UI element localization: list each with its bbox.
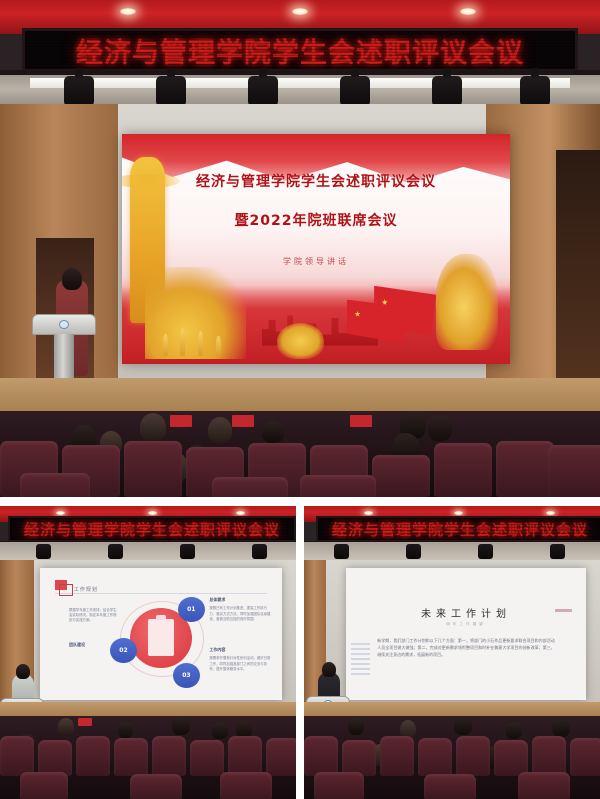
led-banner-right: 经济与管理学院学生会述职评议会议 — [316, 516, 600, 542]
step-heading-03: 工作内容 — [209, 647, 225, 653]
stage-spotlight-icon — [550, 544, 565, 559]
monument-figures-icon — [145, 267, 246, 359]
auditorium-seat — [20, 772, 68, 799]
stage-spotlight-icon — [108, 544, 123, 559]
audience-head — [140, 413, 166, 441]
auditorium-seat — [124, 441, 182, 497]
ceiling-downlight-icon — [292, 8, 308, 15]
right-detail-photo: 经济与管理学院学生会述职评议会议 未来工作计划 明年工作展望 新学期，我们部门工… — [304, 506, 600, 799]
auditorium-seat — [518, 772, 570, 799]
led-banner-left: 经济与管理学院学生会述职评议会议 — [8, 516, 296, 542]
auditorium-seat — [38, 740, 72, 776]
auditorium-seat — [266, 738, 296, 776]
auditorium-seat — [372, 455, 430, 497]
audience-head — [58, 718, 74, 735]
main-conference-photo: 经济与管理学院学生会述职评议会议 — [0, 0, 600, 497]
audience-head — [212, 722, 228, 739]
soffit-light-strip — [30, 78, 570, 88]
stage-spotlight-icon — [180, 544, 195, 559]
step-number-03: 03 — [173, 663, 200, 688]
auditorium-seat — [228, 736, 262, 776]
right-doorway — [556, 150, 600, 390]
projection-screen-main: 经济与管理学院学生会述职评议会议 暨2022年院班联席会议 学院领导讲话 — [122, 134, 510, 364]
projection-screen-left: 工作规划 01 02 03 总体要求 按照已有工作计划推进，提高工作执行力，落实… — [40, 568, 282, 700]
auditorium-seat — [532, 736, 566, 776]
ceiling-downlight-icon — [364, 511, 373, 515]
ceiling-downlight-icon — [56, 511, 65, 515]
auditorium-seat — [152, 736, 186, 776]
audience-area — [304, 716, 600, 799]
stage-spotlight-icon — [406, 544, 421, 559]
name-card — [78, 718, 92, 726]
stage-spotlight-icon — [478, 544, 493, 559]
ceiling-downlight-icon — [546, 511, 555, 515]
slide-note: 学院领导讲话 — [122, 256, 510, 267]
audience-head — [348, 718, 364, 735]
future-plan-body: 新学期，我们部门工作计划和以下几个方面：第一，将部门的小石作品更新要求联合项目和… — [377, 637, 555, 658]
speaker-head — [322, 662, 336, 677]
step-text-03: 按需求开展有针对性系列活动，做好日常工作，同时加强各部门之间的交流与协作，提升整… — [209, 656, 272, 672]
auditorium-seat — [212, 477, 288, 497]
auditorium-seat — [434, 443, 492, 497]
auditorium-seat — [130, 774, 182, 799]
left-detail-photo: 经济与管理学院学生会述职评议会议 工作规划 01 02 03 总体要求 按照已有… — [0, 506, 296, 799]
step-heading-01: 总体要求 — [209, 597, 225, 603]
auditorium-seat — [342, 740, 376, 776]
auditorium-seat — [76, 736, 110, 776]
audience-area — [0, 411, 600, 497]
stage-floor — [304, 702, 600, 716]
projection-screen-right: 未来工作计划 明年工作展望 新学期，我们部门工作计划和以下几个方面：第一，将部门… — [346, 568, 586, 700]
auditorium-seat — [496, 441, 554, 497]
led-banner-main: 经济与管理学院学生会述职评议会议 — [22, 28, 578, 72]
auditorium-seat — [190, 740, 224, 776]
speaker-head — [62, 268, 82, 290]
audience-head — [208, 417, 232, 443]
speaker-head — [16, 664, 30, 679]
future-plan-subtitle: 明年工作展望 — [346, 622, 586, 627]
header-square-outline-icon — [59, 584, 73, 597]
ceiling-downlight-icon — [236, 511, 245, 515]
guardian-lion-icon — [436, 254, 498, 351]
step-text-01: 按照已有工作计划推进，提高工作执行力，落实方式方法，同时加强团队自身建设，营造互… — [209, 606, 272, 622]
auditorium-seat — [456, 736, 490, 776]
stage-spotlight-icon — [252, 544, 267, 559]
led-banner-text: 经济与管理学院学生会述职评议会议 — [332, 519, 588, 540]
step-number-02: 02 — [110, 638, 137, 663]
party-emblem-icon — [277, 323, 324, 360]
podium-main — [32, 314, 96, 384]
auditorium-seat — [424, 774, 476, 799]
audience-head — [506, 722, 522, 739]
auditorium-seat — [114, 738, 148, 776]
stage-spotlight-icon — [334, 544, 349, 559]
name-card — [170, 415, 192, 427]
auditorium-seat — [548, 445, 600, 497]
title-accent-dash — [555, 609, 572, 612]
audience-head — [552, 718, 570, 737]
photo-collage: 经济与管理学院学生会述职评议会议 — [0, 0, 600, 799]
stage-spotlight-icon — [36, 544, 51, 559]
slide-title: 经济与管理学院学生会述职评议会议 — [122, 171, 510, 191]
ceiling-downlight-icon — [148, 511, 157, 515]
name-card — [350, 415, 372, 427]
ceiling-downlight-icon — [460, 8, 476, 15]
ceiling-downlight-icon — [120, 8, 136, 15]
auditorium-seat — [0, 736, 34, 776]
auditorium-seat — [570, 738, 600, 776]
lighting-truss — [0, 70, 600, 75]
audience-head — [428, 415, 452, 441]
led-banner-text: 经济与管理学院学生会述职评议会议 — [24, 519, 280, 540]
auditorium-seat — [20, 473, 90, 497]
audience-head — [118, 722, 133, 738]
ceiling-downlight-icon — [454, 511, 463, 515]
clipboard-icon — [148, 619, 175, 656]
stage-floor — [0, 378, 600, 412]
future-plan-title: 未来工作计划 — [346, 605, 586, 620]
auditorium-seat — [304, 736, 338, 776]
auditorium-seat — [418, 738, 452, 776]
led-banner-text: 经济与管理学院学生会述职评议会议 — [76, 31, 524, 70]
slide-thumbnail-rail — [351, 643, 370, 678]
auditorium-seat — [300, 475, 376, 497]
step-number-01: 01 — [178, 597, 205, 622]
slide-subtitle: 暨2022年院班联席会议 — [122, 210, 510, 230]
auditorium-seat — [314, 772, 364, 799]
work-plan-title: 工作规划 — [74, 586, 98, 593]
stage-floor — [0, 702, 296, 716]
audience-area — [0, 716, 296, 799]
audience-head — [172, 716, 190, 735]
audience-head — [262, 421, 284, 443]
auditorium-seat — [494, 740, 528, 776]
name-card — [232, 415, 254, 427]
panel-divider — [296, 506, 304, 799]
audience-head — [454, 716, 472, 735]
left-paragraph: 根据学年度工作安排，结合学生会实际情况，制定本年度工作规划与实施方案。 — [69, 608, 120, 624]
auditorium-seat — [380, 736, 414, 776]
step-heading-02: 团队建设 — [69, 642, 85, 648]
auditorium-seat — [220, 772, 272, 799]
